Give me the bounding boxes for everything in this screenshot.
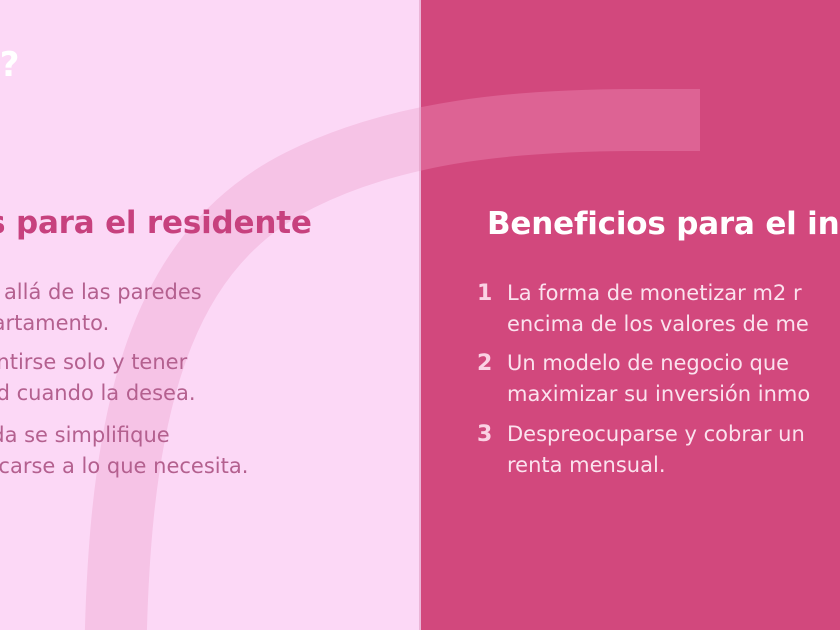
panel-divider bbox=[419, 0, 421, 630]
benefit-text-2: Un modelo de negocio que maximizar su in… bbox=[507, 348, 810, 410]
left-paragraph-3-line-2: dedicarse a lo que necesita. bbox=[0, 451, 373, 482]
benefit-item-2: 2 Un modelo de negocio que maximizar su … bbox=[477, 348, 810, 410]
benefit-text-1: La forma de monetizar m2 r encima de los… bbox=[507, 278, 809, 340]
left-benefits-panel: le? icios para el residente más allá de … bbox=[0, 0, 421, 630]
benefit-number-2: 2 bbox=[477, 348, 507, 379]
benefit-2-line-1: Un modelo de negocio que bbox=[507, 348, 810, 379]
benefit-3-line-1: Despreocuparse y cobrar un bbox=[507, 419, 805, 450]
benefit-3-line-2: renta mensual. bbox=[507, 450, 805, 481]
benefit-number-1: 1 bbox=[477, 278, 507, 309]
benefit-2-line-2: maximizar su inversión inmo bbox=[507, 379, 810, 410]
left-paragraph-2: a sentirse solo y tener cidad cuando la … bbox=[0, 347, 373, 409]
right-panel-heading: Beneficios para el inver bbox=[487, 206, 840, 242]
left-paragraph-2-line-1: a sentirse solo y tener bbox=[0, 347, 373, 378]
left-panel-heading: icios para el residente bbox=[0, 205, 312, 241]
left-paragraph-2-line-2: cidad cuando la desea. bbox=[0, 378, 373, 409]
benefit-number-3: 3 bbox=[477, 419, 507, 450]
left-paragraph-3-line-1: u vida se simplifique bbox=[0, 420, 373, 451]
left-paragraph-1-line-2: departamento. bbox=[0, 308, 373, 339]
benefit-text-3: Despreocuparse y cobrar un renta mensual… bbox=[507, 419, 805, 481]
cut-off-eyebrow-text: le? bbox=[0, 45, 20, 85]
right-benefits-panel: Beneficios para el inver 1 La forma de m… bbox=[421, 0, 840, 630]
slide-canvas: le? icios para el residente más allá de … bbox=[0, 0, 840, 630]
benefit-item-1: 1 La forma de monetizar m2 r encima de l… bbox=[477, 278, 809, 340]
benefit-1-line-1: La forma de monetizar m2 r bbox=[507, 278, 809, 309]
benefit-1-line-2: encima de los valores de me bbox=[507, 309, 809, 340]
left-paragraph-3: u vida se simplifique dedicarse a lo que… bbox=[0, 420, 373, 482]
left-paragraph-1-line-1: más allá de las paredes bbox=[0, 277, 373, 308]
left-paragraph-1: más allá de las paredes departamento. bbox=[0, 277, 373, 339]
benefit-item-3: 3 Despreocuparse y cobrar un renta mensu… bbox=[477, 419, 805, 481]
